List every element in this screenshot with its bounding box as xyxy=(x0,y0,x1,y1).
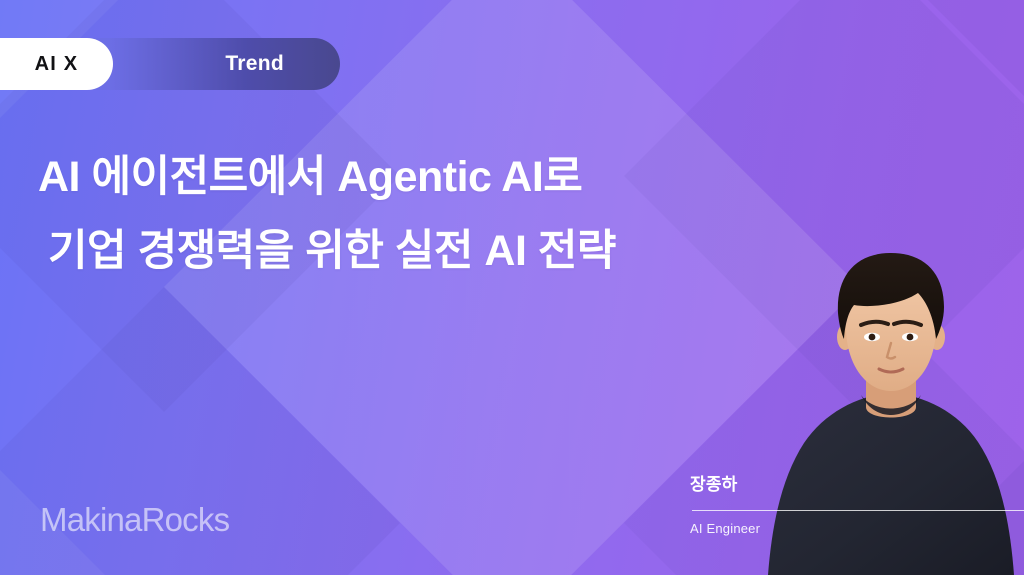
speaker-divider xyxy=(692,510,1024,511)
category-pill-label: AI X xyxy=(35,53,79,76)
category-pill-aix[interactable]: AI X xyxy=(0,38,113,90)
tag-pill-group: Trend AI X xyxy=(0,38,340,90)
speaker-info: 장종하 xyxy=(690,470,1024,495)
speaker-portrait-photo xyxy=(766,245,1016,575)
topic-pill-label: Trend xyxy=(225,52,284,76)
speaker-role: AI Engineer xyxy=(690,521,760,536)
speaker-name: 장종하 xyxy=(690,470,1024,495)
headline-line-1: AI 에이전트에서 Agentic AI로 xyxy=(38,140,878,214)
brand-logo: MakinaRocks xyxy=(40,501,229,539)
page-title: AI 에이전트에서 Agentic AI로 기업 경쟁력을 위한 실전 AI 전… xyxy=(38,140,878,288)
webinar-banner: Trend AI X AI 에이전트에서 Agentic AI로 기업 경쟁력을… xyxy=(0,0,1024,575)
headline-line-2: 기업 경쟁력을 위한 실전 AI 전략 xyxy=(38,214,878,288)
